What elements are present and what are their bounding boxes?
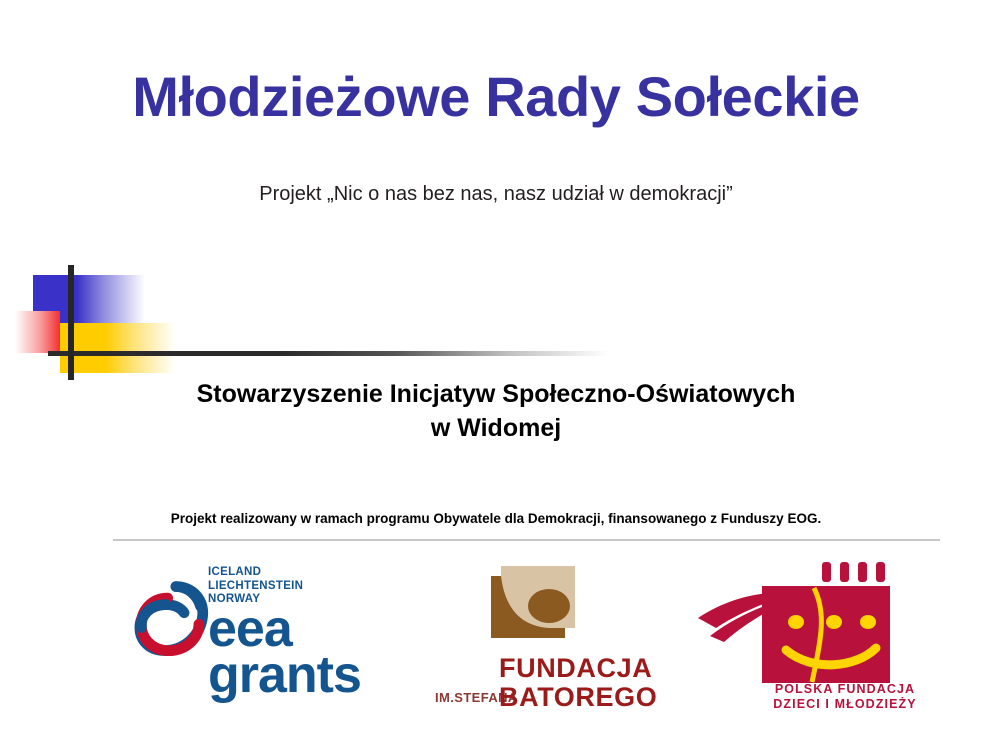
ornament-red-square: [15, 311, 60, 353]
organization-name-line2: w Widomej: [96, 412, 896, 446]
ornament-blue-gradient: [77, 275, 145, 323]
funding-note: Projekt realizowany w ramach programu Ob…: [46, 511, 946, 526]
slide-subtitle: Projekt „Nic o nas bez nas, nasz udział …: [0, 183, 992, 206]
fundacja-batorego-logo: IM.STEFANA FUNDACJA BATOREGO: [435, 566, 675, 716]
ornament-yellow-square: [60, 323, 105, 373]
batory-name-line2: BATOREGO: [499, 683, 657, 712]
batory-name: FUNDACJA BATOREGO: [499, 654, 657, 712]
organization-name: Stowarzyszenie Inicjatyw Społeczno-Oświa…: [96, 378, 896, 446]
eea-grants-wordmark: ICELAND LIECHTENSTEIN NORWAY eea grants: [208, 566, 403, 698]
organization-name-line1: Stowarzyszenie Inicjatyw Społeczno-Oświa…: [96, 378, 896, 412]
logo-row: ICELAND LIECHTENSTEIN NORWAY eea grants: [0, 556, 992, 736]
eea-ribbon-icon: [130, 580, 212, 662]
eea-country-iceland: ICELAND: [208, 566, 403, 580]
slide-title: Młodzieżowe Rady Sołeckie: [0, 66, 992, 128]
ornament-horizontal-bar: [48, 351, 608, 356]
eea-word-eea: eea: [208, 607, 403, 652]
batory-name-line1: FUNDACJA: [499, 654, 657, 683]
footer-divider: [113, 539, 940, 541]
pfdim-wordmark: POLSKA FUNDACJA DZIECI I MŁODZIEŻY: [750, 682, 940, 713]
eea-grants-logo: ICELAND LIECHTENSTEIN NORWAY eea grants: [130, 566, 400, 711]
eea-word-grants: grants: [208, 653, 403, 698]
ornament-yellow-gradient: [105, 323, 175, 373]
pfdim-name-line1: POLSKA FUNDACJA: [750, 682, 940, 697]
eea-country-liechtenstein: LIECHTENSTEIN: [208, 580, 403, 594]
pfdim-name-line2: DZIECI I MŁODZIEŻY: [750, 697, 940, 712]
presentation-slide: Młodzieżowe Rady Sołeckie Projekt „Nic o…: [0, 0, 992, 744]
pfdim-face-icon: [690, 560, 940, 685]
batory-emblem-icon: [487, 566, 587, 644]
ornament-vertical-bar: [68, 265, 74, 380]
polska-fundacja-dzieci-i-mlodziezy-logo: POLSKA FUNDACJA DZIECI I MŁODZIEŻY: [690, 556, 940, 716]
decorative-ornament: [0, 255, 992, 385]
